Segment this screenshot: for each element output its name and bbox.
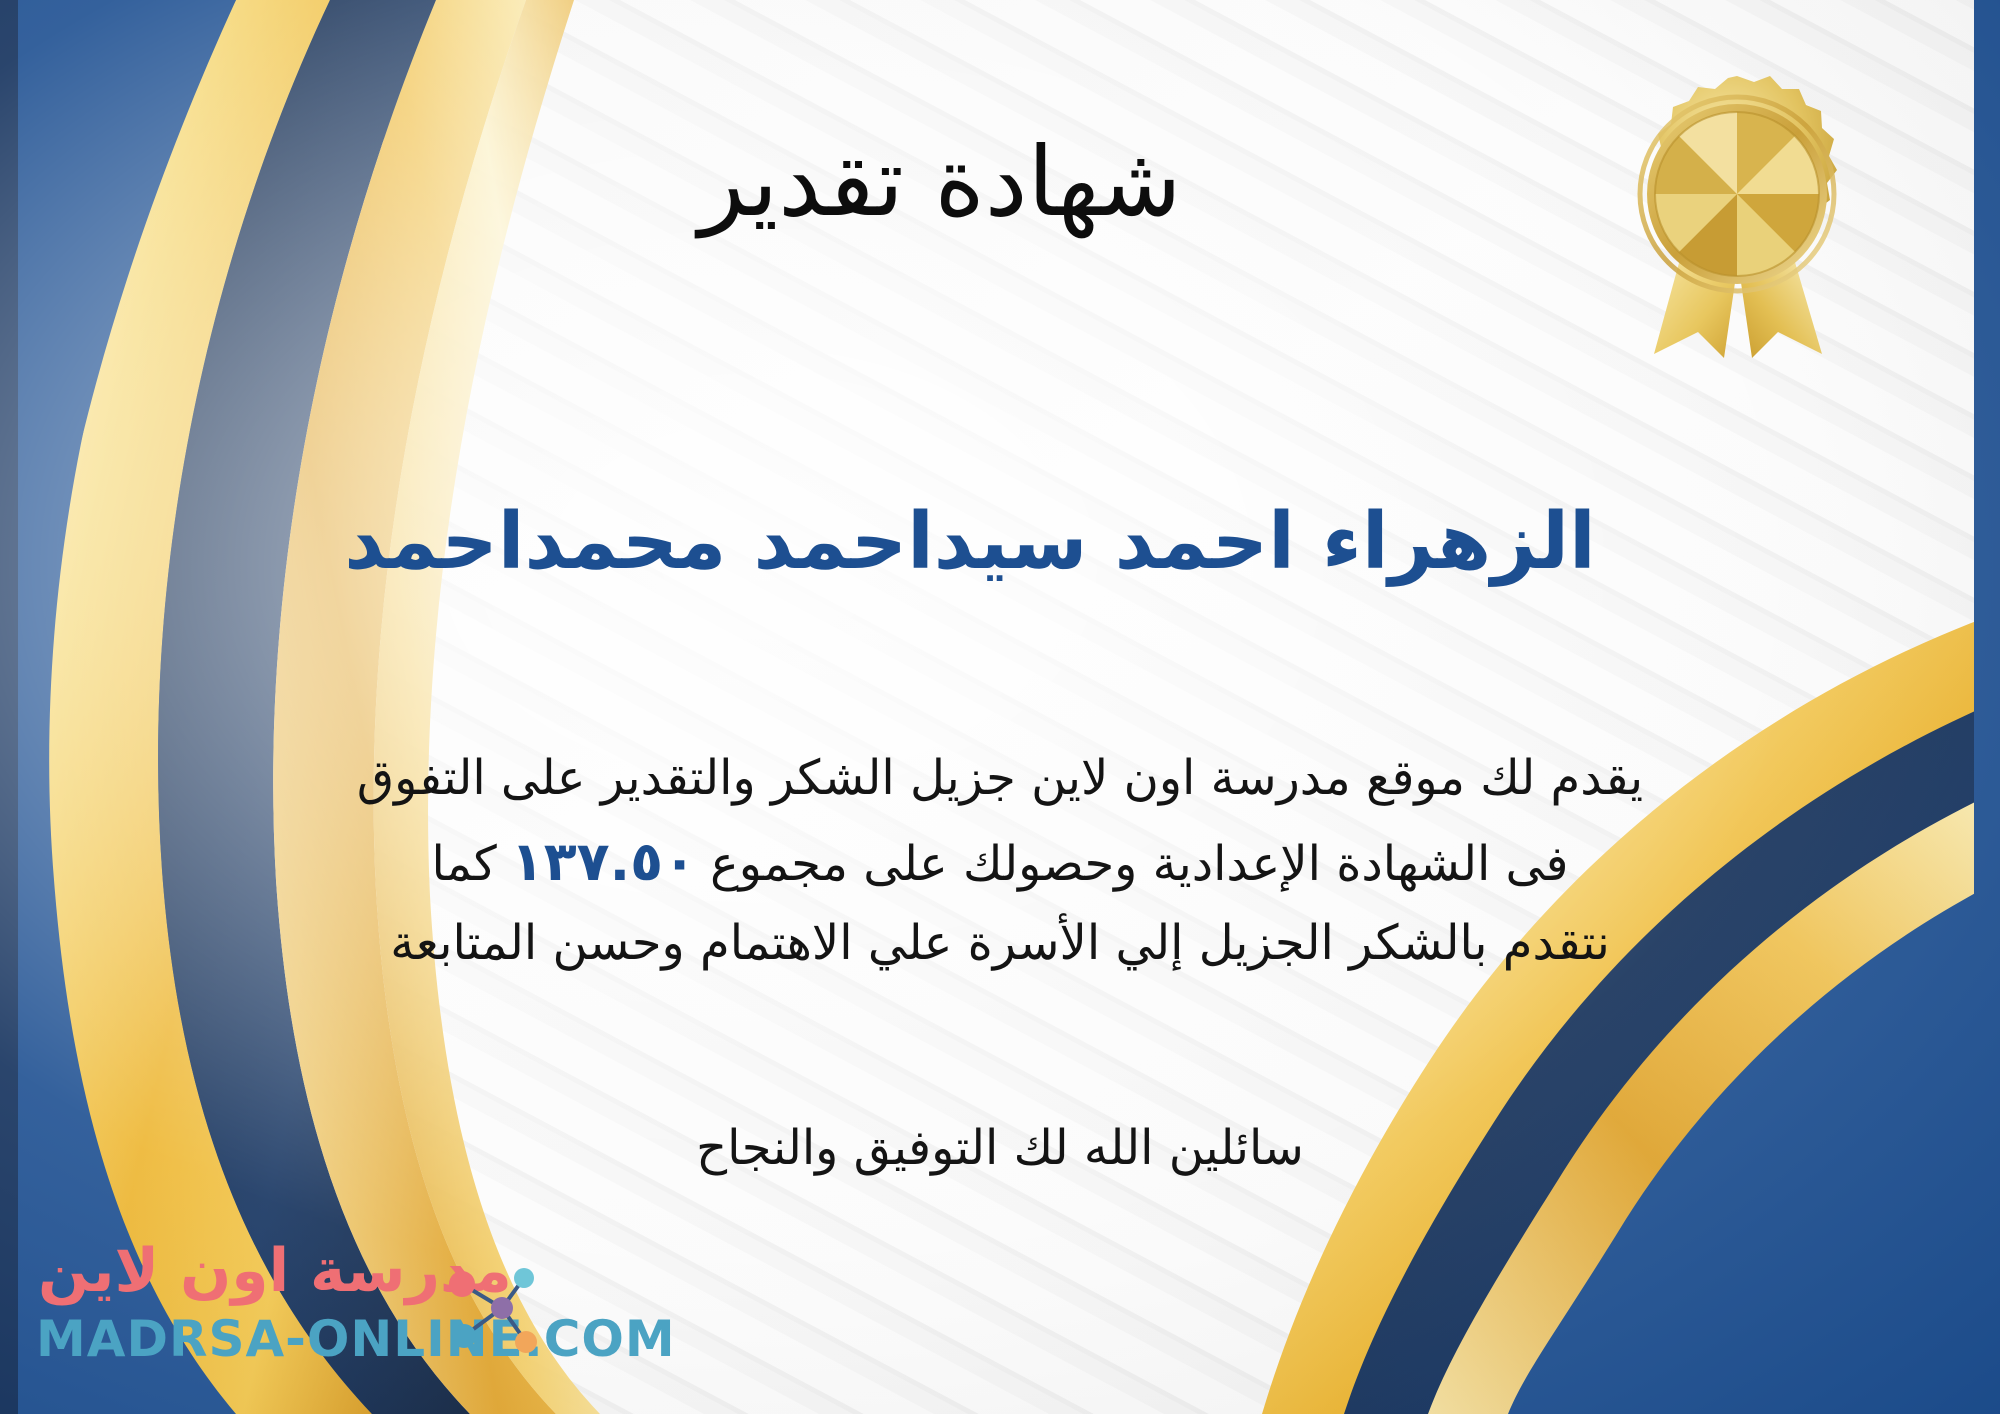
grade-value: ١٣٧.٥٠ [497,830,710,893]
body-line-2-before: فى الشهادة الإعدادية وحصولك على مجموع [710,836,1568,892]
network-nodes-icon [428,1250,548,1370]
logo-url-text: MADRSA-ONLINE.COM [36,1310,676,1368]
body-line-2-after: كما [432,836,497,892]
body-line-1: يقدم لك موقع مدرسة اون لاين جزيل الشكر و… [60,740,1940,818]
closing-text: سائلين الله لك التوفيق والنجاح [60,1120,1940,1176]
certificate: شهادة تقدير الزهراء احمد سيداحمد محمداحم… [0,0,2000,1414]
certificate-body: يقدم لك موقع مدرسة اون لاين جزيل الشكر و… [60,740,1940,983]
body-line-3: نتقدم بالشكر الجزيل إلي الأسرة علي الاهت… [60,905,1940,983]
body-line-2: فى الشهادة الإعدادية وحصولك على مجموع١٣٧… [60,818,1940,905]
certificate-content: شهادة تقدير الزهراء احمد سيداحمد محمداحم… [0,0,2000,1414]
page-title: شهادة تقدير [0,130,2000,236]
student-name: الزهراء احمد سيداحمد محمداحمد [0,498,2000,588]
site-logo[interactable]: مدرسة اون لاين MADRSA-ONLINE.COM [28,1240,588,1390]
